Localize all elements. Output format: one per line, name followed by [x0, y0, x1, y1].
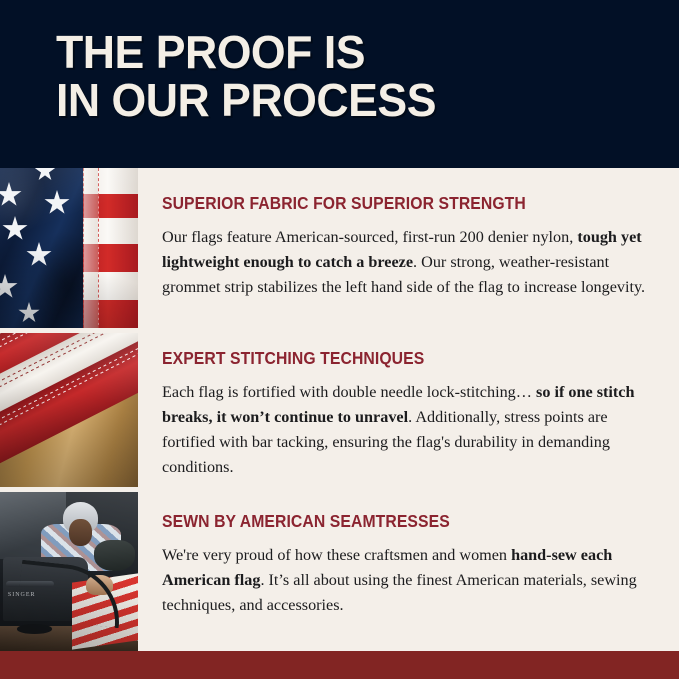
section-heading: EXPERT STITCHING TECHNIQUES	[162, 348, 612, 369]
flag-star-icon	[44, 190, 70, 216]
feature-section: SUPERIOR FABRIC FOR SUPERIOR STRENGTH Ou…	[162, 193, 662, 300]
feature-section: SEWN BY AMERICAN SEAMTRESSES We're very …	[162, 511, 662, 618]
flag-star-icon	[0, 182, 22, 208]
page-title-line-2: IN OUR PROCESS	[56, 76, 638, 124]
flag-star-icon	[34, 168, 56, 182]
feature-section: EXPERT STITCHING TECHNIQUES Each flag is…	[162, 348, 662, 480]
grommet-strip	[83, 168, 99, 328]
section-heading: SEWN BY AMERICAN SEAMTRESSES	[162, 511, 612, 532]
section-body: Our flags feature American-sourced, firs…	[162, 225, 662, 300]
flag-stripes	[83, 168, 138, 328]
flag-star-icon	[2, 216, 28, 242]
section-body: We're very proud of how these craftsmen …	[162, 543, 662, 618]
section-heading: SUPERIOR FABRIC FOR SUPERIOR STRENGTH	[162, 193, 612, 214]
header-banner: THE PROOF IS IN OUR PROCESS	[0, 0, 679, 168]
flag-star-icon	[0, 274, 18, 300]
section-body: Each flag is fortified with double needl…	[162, 380, 662, 480]
infographic-page: THE PROOF IS IN OUR PROCESS	[0, 0, 679, 679]
photo-column: SINGER	[0, 168, 138, 651]
task-lamp-base	[17, 624, 53, 634]
page-title: THE PROOF IS IN OUR PROCESS	[56, 28, 638, 124]
seamstress-face	[69, 519, 92, 546]
page-title-line-1: THE PROOF IS	[56, 28, 638, 76]
american-flag-closeup-photo	[0, 168, 138, 328]
flag-star-icon	[18, 302, 40, 324]
bottom-accent-bar	[0, 651, 679, 679]
seamstress-sewing-flag-photo: SINGER	[0, 492, 138, 651]
task-lamp-head-icon	[94, 540, 135, 572]
flag-union-field	[0, 168, 83, 328]
flag-stitching-detail-photo	[0, 333, 138, 487]
content-panel: SUPERIOR FABRIC FOR SUPERIOR STRENGTH Ou…	[138, 168, 679, 651]
stitched-stripes	[0, 333, 138, 487]
flag-star-icon	[26, 242, 52, 268]
